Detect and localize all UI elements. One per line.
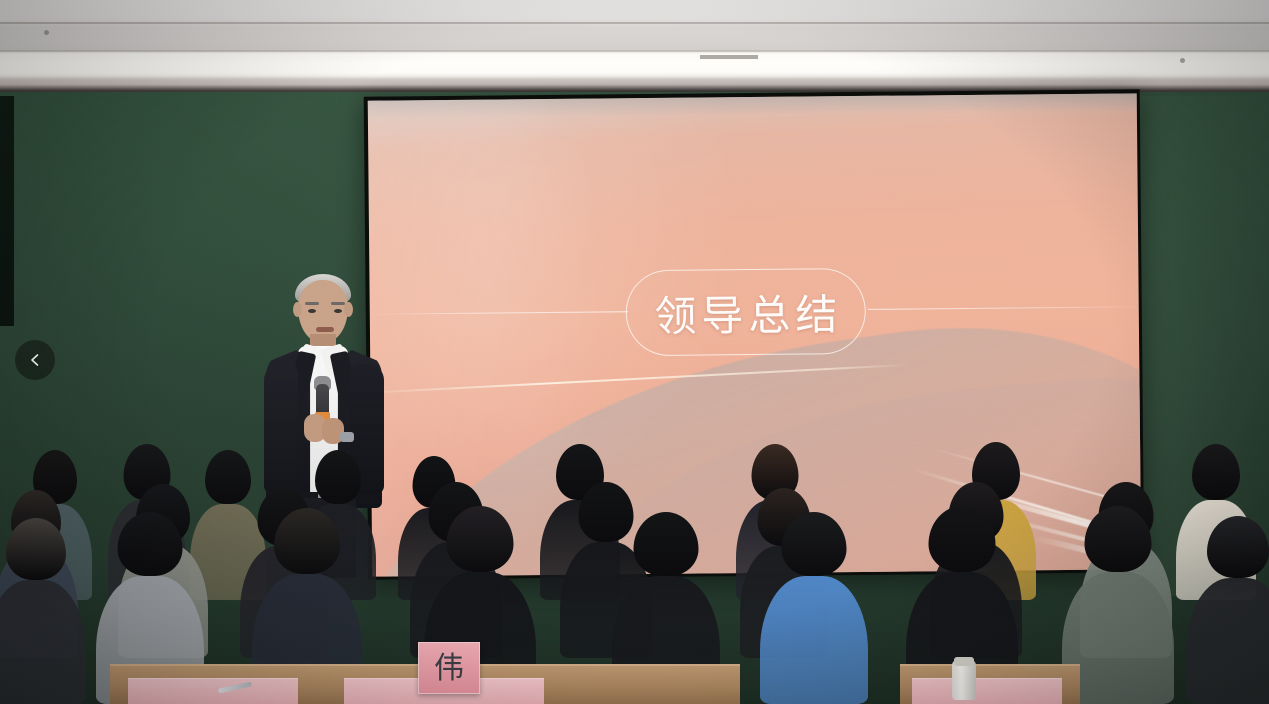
ceiling <box>0 0 1269 96</box>
attendee-head <box>6 518 66 580</box>
desk-pad <box>912 678 1062 704</box>
attendee-head <box>1085 506 1152 572</box>
slide-top-band <box>368 93 1137 118</box>
chevron-left-icon <box>27 352 43 368</box>
attendee-head <box>929 506 996 572</box>
ceiling-fixture-dot-icon <box>44 30 49 35</box>
attendee-head <box>634 512 699 576</box>
previous-button[interactable] <box>15 340 55 380</box>
presenter-mouth <box>316 327 334 332</box>
ceiling-seam <box>0 22 1269 24</box>
desk <box>560 664 740 704</box>
slide-title-pill: 领导总结 <box>625 268 866 356</box>
presenter-eye <box>308 309 316 313</box>
presenter-ear <box>344 302 353 317</box>
ceiling-vent <box>700 55 758 59</box>
name-placard-text: 伟 <box>434 654 464 684</box>
front-desk-row: 伟 <box>0 658 1269 704</box>
presenter-eyebrow <box>331 302 345 305</box>
attendee-head <box>782 512 847 576</box>
attendee-head <box>447 506 514 572</box>
attendee-head <box>274 508 340 574</box>
presentation-photo: 领导总结 <box>0 0 1269 704</box>
presenter-ear <box>293 302 302 317</box>
wall-panel-left <box>0 96 14 326</box>
attendee-head <box>1192 444 1240 500</box>
presenter-eye <box>334 309 342 313</box>
ceiling-seam <box>0 50 1269 52</box>
slide-hairline-right <box>868 306 1142 310</box>
slide-hairline-left <box>370 311 628 314</box>
attendee-head <box>118 512 183 576</box>
presenter-eyebrow <box>305 302 319 305</box>
water-bottle <box>952 660 976 700</box>
slide-title: 领导总结 <box>649 281 843 344</box>
attendee-head <box>1207 516 1269 578</box>
desk-pad <box>128 678 298 704</box>
name-placard: 伟 <box>418 642 480 694</box>
water-bottle-cap <box>954 657 974 666</box>
ceiling-fixture-dot-icon <box>1180 58 1185 63</box>
